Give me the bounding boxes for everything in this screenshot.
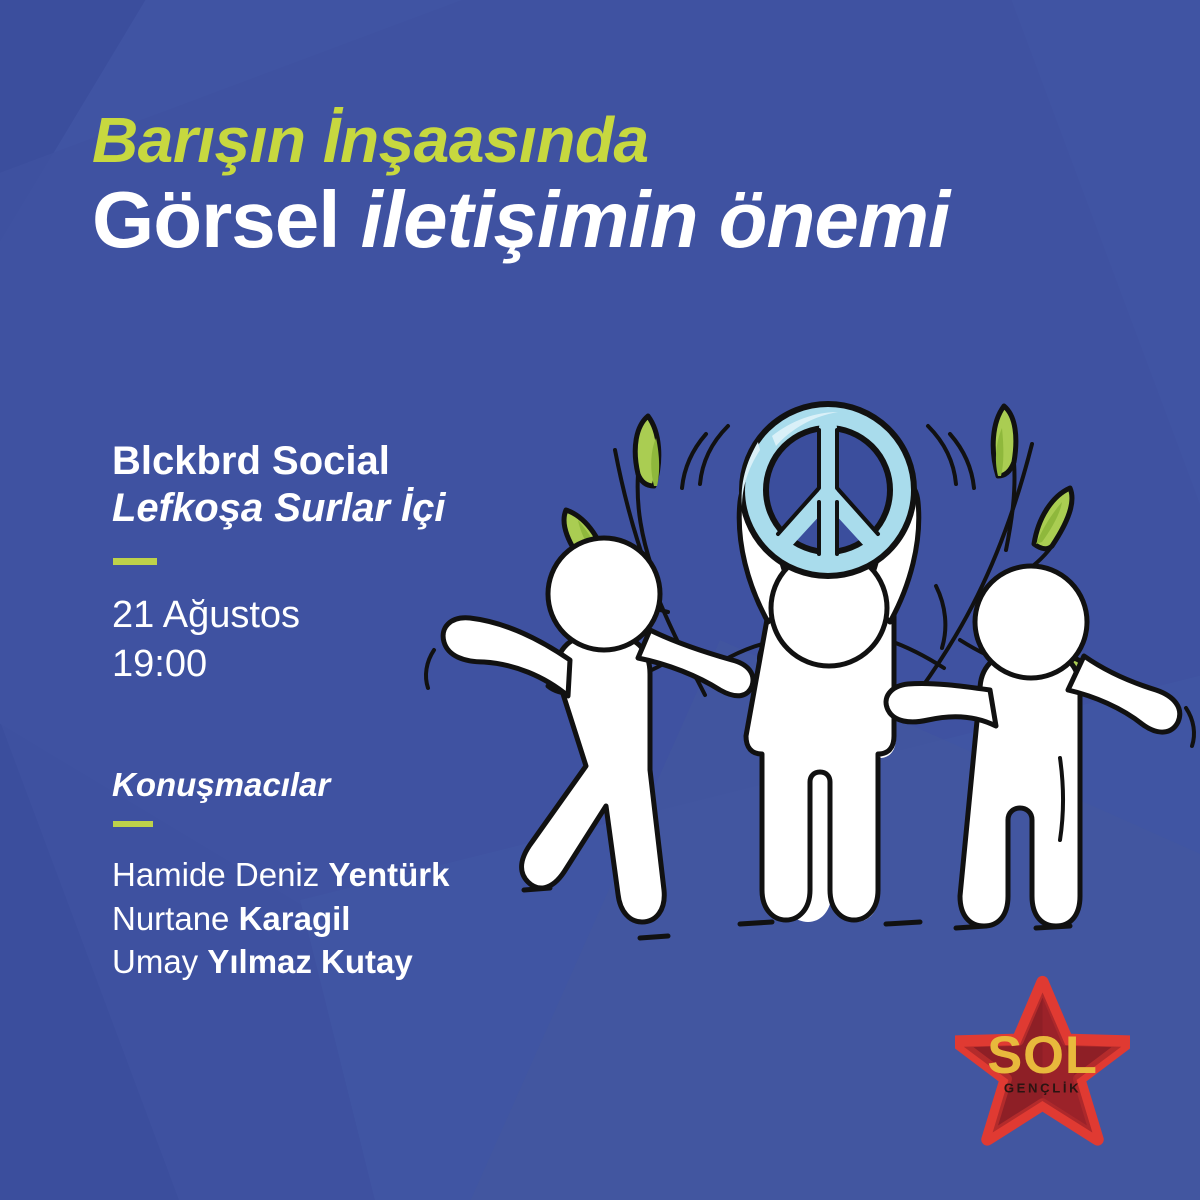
logo-subtext: GENÇLİK [1004,1080,1081,1095]
figure-right [886,566,1194,928]
divider-rule [113,558,157,565]
speaker-last-name: Yılmaz Kutay [207,943,412,980]
title-italic-part: iletişimin önemi [361,175,950,264]
speaker-first-name: Nurtane [112,900,239,937]
title-upright-part: Görsel [92,175,339,264]
headline-kicker: Barışın İnşaasında [92,108,1102,172]
logo-wordmark: SOL [987,1026,1098,1085]
speaker-last-name: Karagil [239,900,351,937]
figure-left [426,538,753,938]
page-title: Görsel iletişimin önemi [92,180,1102,260]
poster-canvas: Barışın İnşaasında Görsel iletişimin öne… [0,0,1200,1200]
divider-rule [113,821,153,827]
speaker-first-name: Umay [112,943,207,980]
sol-genclik-logo: SOL GENÇLİK [955,975,1130,1150]
headline-block: Barışın İnşaasında Görsel iletişimin öne… [92,108,1102,260]
illustration [400,390,1200,1010]
speaker-first-name: Hamide Deniz [112,856,328,893]
peace-sign-icon [682,404,974,576]
